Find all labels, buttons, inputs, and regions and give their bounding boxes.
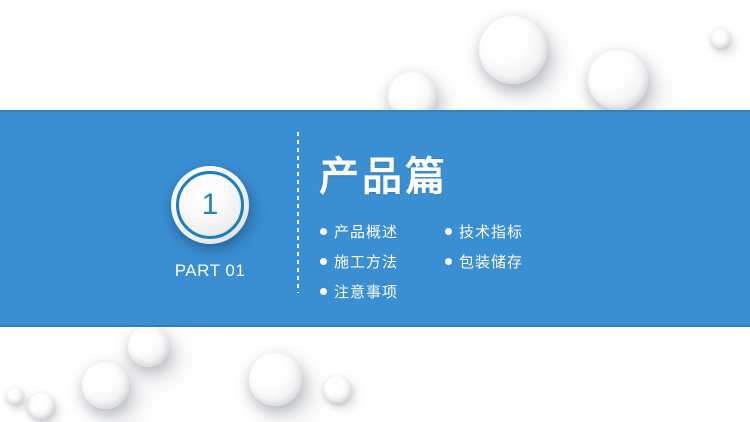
dashed-divider — [297, 132, 299, 293]
bullet-dot-icon — [445, 228, 452, 235]
sphere-bottom-upper — [128, 326, 169, 367]
topic-column-left: 产品概述 施工方法 注意事项 — [320, 216, 445, 306]
sphere-bottom-mid — [249, 353, 302, 406]
topic-item-technical-specs[interactable]: 技术指标 — [445, 216, 570, 246]
sphere-bottom-left-mid — [82, 362, 129, 409]
sphere-top-tiny — [711, 29, 730, 48]
badge-inner-disc: 1 — [181, 176, 239, 234]
topic-item-construction-method[interactable]: 施工方法 — [320, 246, 445, 276]
sphere-top-large — [479, 16, 547, 84]
topic-item-packaging-storage[interactable]: 包装储存 — [445, 246, 570, 276]
topic-label: 产品概述 — [334, 221, 398, 242]
sphere-bottom-small — [28, 393, 54, 419]
topic-column-right: 技术指标 包装储存 — [445, 216, 570, 306]
topic-label: 包装储存 — [459, 251, 523, 272]
sphere-bottom-tiny — [7, 388, 23, 404]
section-title: 产品篇 — [319, 156, 448, 199]
bullet-dot-icon — [320, 228, 327, 235]
topic-label: 注意事项 — [334, 281, 398, 302]
topic-label: 施工方法 — [334, 251, 398, 272]
sphere-top-medium — [588, 50, 648, 110]
topic-item-product-overview[interactable]: 产品概述 — [320, 216, 445, 246]
presentation-slide: 1 PART 01 产品篇 产品概述 施工方法 注意事项 技术指标 — [0, 0, 750, 422]
section-number: 1 — [202, 190, 219, 220]
section-topic-list: 产品概述 施工方法 注意事项 技术指标 包装储存 — [320, 216, 570, 306]
bullet-dot-icon — [320, 258, 327, 265]
topic-item-precautions[interactable]: 注意事项 — [320, 276, 445, 306]
part-label: PART 01 — [150, 261, 270, 281]
bullet-dot-icon — [320, 288, 327, 295]
topic-label: 技术指标 — [459, 221, 523, 242]
sphere-bottom-right — [324, 376, 351, 403]
bullet-dot-icon — [445, 258, 452, 265]
section-number-badge: 1 — [171, 166, 249, 244]
